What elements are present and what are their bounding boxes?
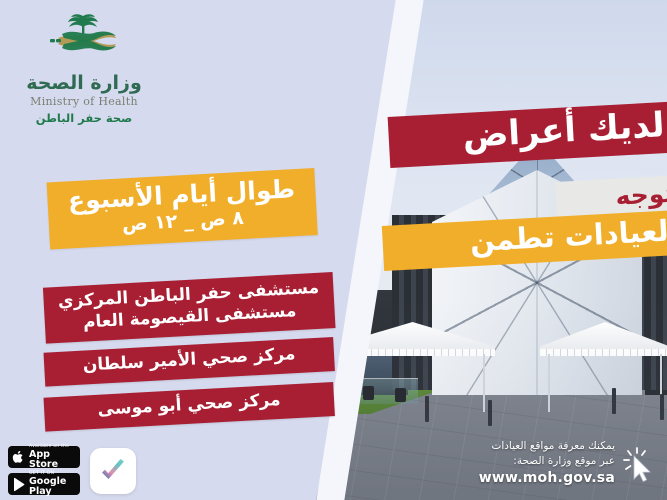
facility-name: مركز صحي أبو موسى bbox=[56, 388, 323, 424]
logo-subtitle-arabic: صحة حفر الباطن bbox=[14, 111, 154, 125]
left-info-panel: وزارة الصحة Ministry of Health صحة حفر ا… bbox=[0, 0, 330, 500]
app-store-name: App Store bbox=[29, 450, 76, 469]
google-play-badge[interactable]: GET IT ON Google Play bbox=[8, 473, 80, 495]
moh-website-url[interactable]: www.moh.gov.sa bbox=[479, 470, 615, 486]
google-play-name: Google Play bbox=[29, 477, 76, 496]
app-download-badges: Available on the App Store GET IT ON Goo… bbox=[8, 446, 208, 495]
ministry-of-health-logo: وزارة الصحة Ministry of Health صحة حفر ا… bbox=[14, 12, 154, 125]
facility-banner-hospitals: مستشفى حفر الباطن المركزي مستشفى القيصوم… bbox=[43, 272, 336, 343]
logo-title-arabic: وزارة الصحة bbox=[14, 72, 154, 94]
facility-banner-prince-sultan: مركز صحي الأمير سلطان bbox=[44, 337, 335, 386]
facility-name: مركز صحي الأمير سلطان bbox=[56, 343, 323, 379]
google-play-icon bbox=[12, 477, 25, 492]
facility-banner-abu-musa: مركز صحي أبو موسى bbox=[44, 382, 335, 431]
moh-palm-swords-emblem-icon bbox=[28, 12, 140, 74]
health-clinic-poster: ✝ bbox=[0, 0, 667, 500]
mouse-pointer-click-icon bbox=[621, 445, 655, 485]
mawid-app-icon[interactable] bbox=[90, 448, 136, 494]
checkmark-icon bbox=[98, 456, 128, 486]
apple-logo-icon bbox=[12, 450, 25, 465]
app-store-badge[interactable]: Available on the App Store bbox=[8, 446, 80, 468]
cta-line-1: يمكنك معرفة مواقع العيادات bbox=[479, 439, 615, 454]
website-cta: يمكنك معرفة مواقع العيادات عبر موقع وزار… bbox=[405, 439, 655, 486]
cta-line-2: عبر موقع وزارة الصحة: bbox=[479, 454, 615, 469]
logo-title-english: Ministry of Health bbox=[14, 95, 154, 108]
working-hours-banner: طوال أيام الأسبوع ٨ ص _ ١٢ ص bbox=[47, 168, 318, 249]
